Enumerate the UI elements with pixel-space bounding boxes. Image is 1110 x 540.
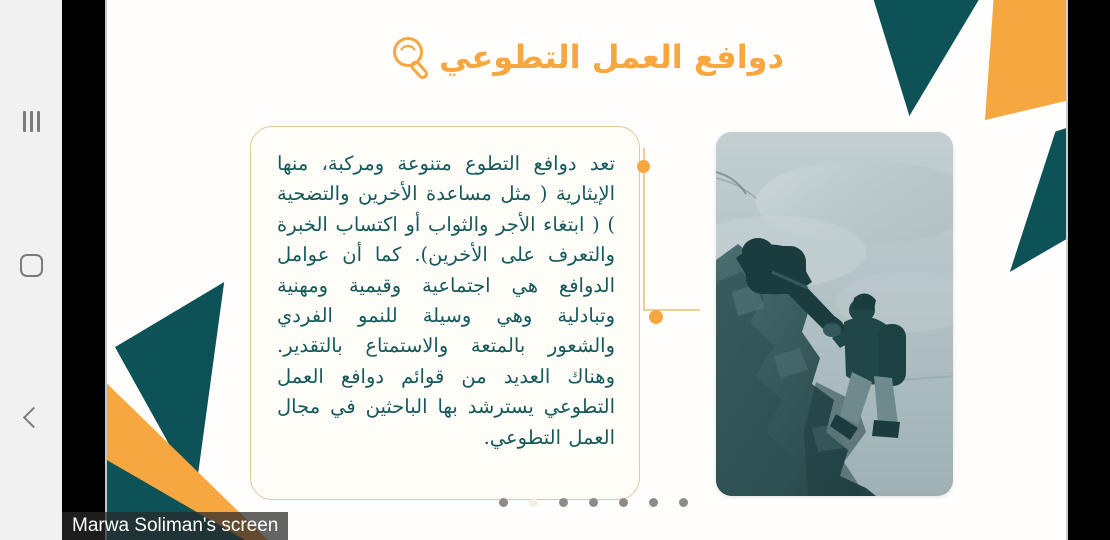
system-navigation-bar [0,0,62,540]
decor-triangle-top-right-teal-2 [987,92,1066,272]
slide-dot[interactable] [529,498,538,507]
shared-screen-viewport: دوافع العمل التطوعي تعد دوافع التطوع متن… [0,0,1110,540]
slide-dot-indicators[interactable] [499,498,688,507]
slide-dot[interactable] [589,498,598,507]
bullet-dot-top [637,160,650,173]
slide-dot[interactable] [559,498,568,507]
back-icon [23,406,44,427]
recents-icon [23,111,40,132]
slide-dot[interactable] [649,498,658,507]
letterbox-bar-left [62,0,105,540]
bullet-dot-middle [649,310,663,324]
content-card-paragraph: تعد دوافع التطوع متنوعة ومركبة، منها الإ… [251,127,639,467]
home-button[interactable] [0,244,62,286]
climbers-photo-illustration [716,132,953,496]
slide-title-row: دوافع العمل التطوعي [107,32,1066,82]
slide-edge-seam-right [1066,0,1068,540]
slide-dot[interactable] [679,498,688,507]
content-card: تعد دوافع التطوع متنوعة ومركبة، منها الإ… [250,126,640,500]
slide-edge-seam-left [105,0,107,540]
slide-photo [716,132,953,496]
magnifying-glass-icon [389,32,433,82]
recents-button[interactable] [0,100,62,142]
slide-dot[interactable] [499,498,508,507]
page-title: دوافع العمل التطوعي [439,38,784,76]
back-button[interactable] [0,396,62,438]
slide-dot[interactable] [619,498,628,507]
screen-share-label: Marwa Soliman's screen [62,512,288,540]
presentation-slide: دوافع العمل التطوعي تعد دوافع التطوع متن… [107,0,1066,540]
home-icon [20,254,43,277]
card-photo-connector [638,148,700,328]
letterbox-bar-right [1068,0,1110,540]
